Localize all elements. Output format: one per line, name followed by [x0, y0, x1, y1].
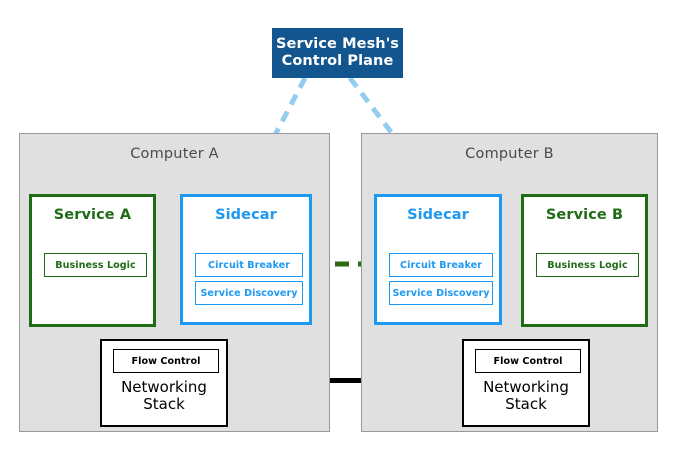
computer-b-title: Computer B	[362, 146, 657, 162]
service-b-business-logic-chip[interactable]: Business Logic	[536, 253, 639, 277]
service-a-box[interactable]: Service A Business Logic	[29, 194, 156, 327]
sidecar-a-circuit-breaker-chip[interactable]: Circuit Breaker	[195, 253, 303, 277]
control-plane-label-line2: Control Plane	[282, 53, 394, 69]
sidecar-b-box[interactable]: Sidecar Circuit Breaker Service Discover…	[374, 194, 502, 325]
sidecar-b-circuit-breaker-chip[interactable]: Circuit Breaker	[389, 253, 493, 277]
sidecar-a-title: Sidecar	[183, 207, 309, 223]
networking-stack-a-box[interactable]: Flow Control Networking Stack	[100, 339, 228, 427]
networking-stack-a-title-line2: Stack	[143, 395, 185, 413]
sidecar-b-title: Sidecar	[377, 207, 499, 223]
diagram-canvas: Service Mesh's Control Plane Computer A …	[0, 0, 689, 453]
service-a-business-logic-chip[interactable]: Business Logic	[44, 253, 147, 277]
sidecar-a-box[interactable]: Sidecar Circuit Breaker Service Discover…	[180, 194, 312, 325]
computer-a-title: Computer A	[20, 146, 329, 162]
networking-stack-a-flow-control-chip[interactable]: Flow Control	[113, 349, 219, 373]
service-b-title: Service B	[524, 207, 645, 223]
control-plane-box[interactable]: Service Mesh's Control Plane	[272, 28, 403, 78]
networking-stack-a-title: Networking Stack	[102, 379, 226, 414]
sidecar-a-service-discovery-chip[interactable]: Service Discovery	[195, 281, 303, 305]
networking-stack-a-title-line1: Networking	[121, 378, 207, 396]
service-b-box[interactable]: Service B Business Logic	[521, 194, 648, 327]
networking-stack-b-title: Networking Stack	[464, 379, 588, 414]
networking-stack-b-title-line2: Stack	[505, 395, 547, 413]
service-a-title: Service A	[32, 207, 153, 223]
networking-stack-b-title-line1: Networking	[483, 378, 569, 396]
networking-stack-b-flow-control-chip[interactable]: Flow Control	[475, 349, 581, 373]
control-plane-label-line1: Service Mesh's	[276, 36, 399, 52]
sidecar-b-service-discovery-chip[interactable]: Service Discovery	[389, 281, 493, 305]
networking-stack-b-box[interactable]: Flow Control Networking Stack	[462, 339, 590, 427]
control-plane-label: Service Mesh's Control Plane	[276, 36, 399, 70]
